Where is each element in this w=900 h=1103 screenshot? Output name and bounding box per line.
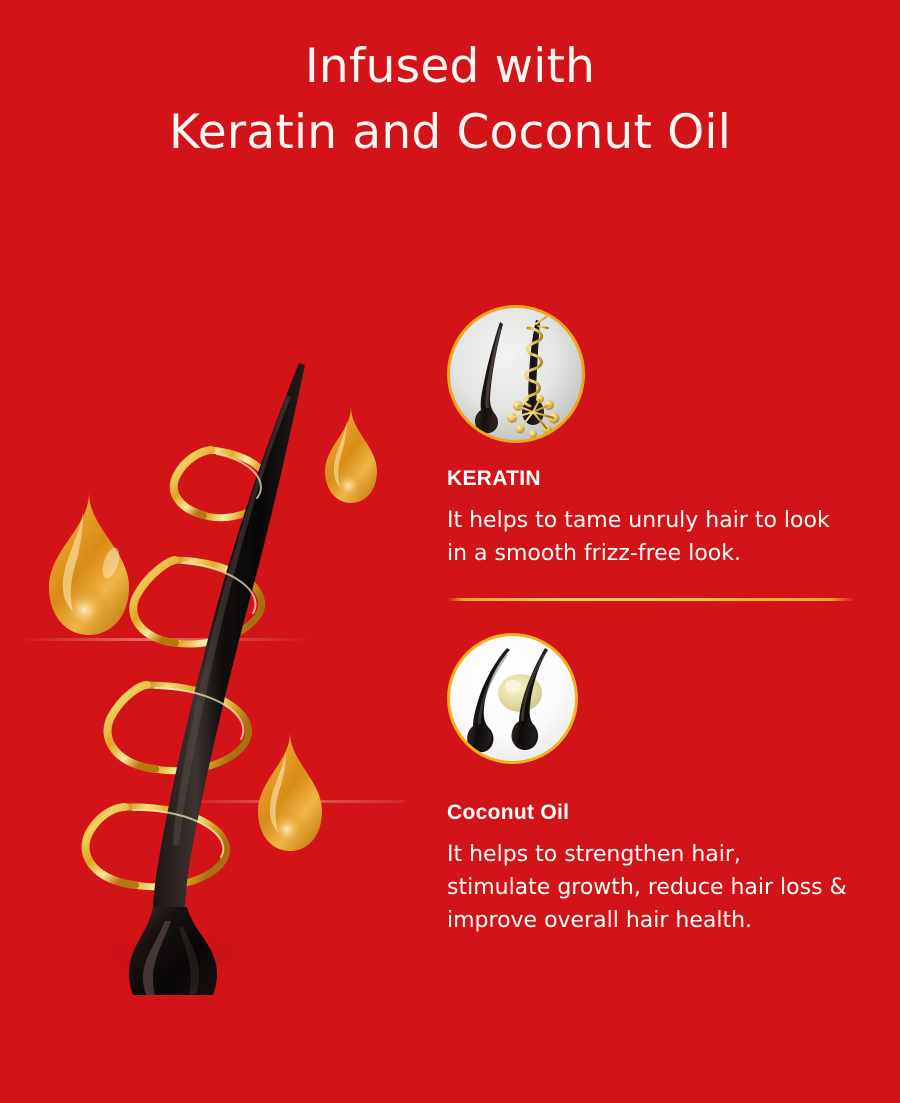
feature-title-coconut-oil: Coconut Oil	[447, 801, 857, 825]
coconut-oil-hair-strand-icon	[447, 633, 578, 764]
page-title: Infused with Keratin and Coconut Oil	[0, 34, 900, 166]
hair-strand-illustration	[25, 355, 405, 995]
coconut-icon-wrapper	[447, 633, 857, 764]
page-title-line-2: Keratin and Coconut Oil	[0, 100, 900, 166]
feature-list: KERATIN It helps to tame unruly hair to …	[447, 305, 857, 937]
oil-droplet-large	[49, 493, 129, 635]
keratin-hair-strand-icon	[447, 305, 585, 443]
product-infographic-poster: Infused with Keratin and Coconut Oil	[0, 0, 900, 1103]
feature-body-keratin: It helps to tame unruly hair to look in …	[447, 504, 847, 570]
feature-body-coconut-oil: It helps to strengthen hair, stimulate g…	[447, 838, 847, 937]
section-divider	[447, 598, 855, 601]
page-title-line-1: Infused with	[0, 34, 900, 100]
oil-droplet-lower-right	[258, 733, 322, 851]
feature-keratin: KERATIN It helps to tame unruly hair to …	[447, 305, 857, 570]
feature-title-keratin: KERATIN	[447, 467, 857, 491]
oil-droplet-small-top	[325, 407, 377, 503]
feature-coconut-oil: Coconut Oil It helps to strengthen hair,…	[447, 633, 857, 937]
